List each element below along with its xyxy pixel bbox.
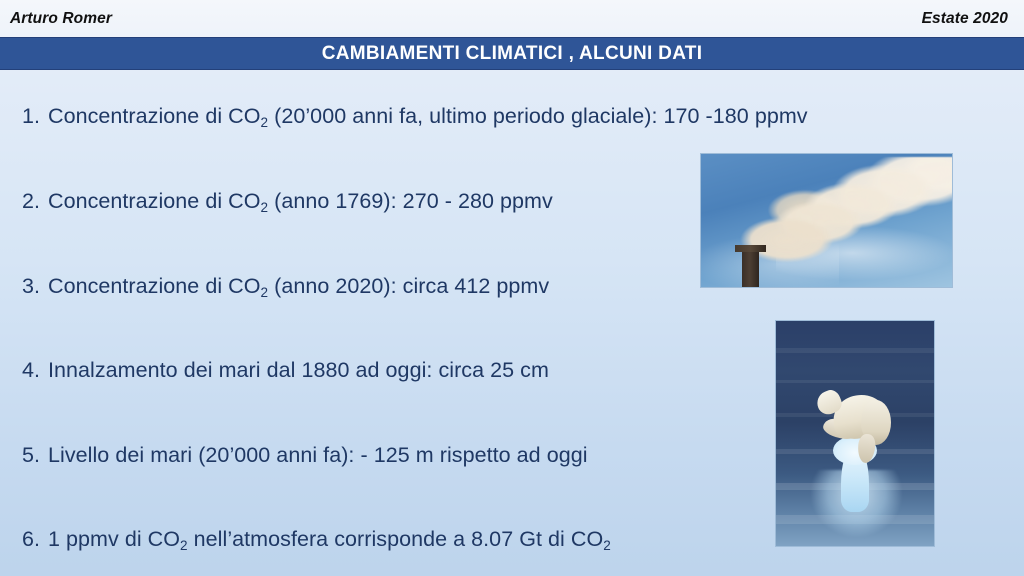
list-item-number: 3. <box>22 274 48 299</box>
list-item: 5. Livello dei mari (20’000 anni fa): - … <box>22 443 588 468</box>
page-title: CAMBIAMENTI CLIMATICI , ALCUNI DATI <box>322 43 703 65</box>
list-item: 4. Innalzamento dei mari dal 1880 ad ogg… <box>22 358 549 383</box>
bear-hind-leg <box>857 433 877 464</box>
list-item: 3. Concentrazione di CO2 (anno 2020): ci… <box>22 274 549 299</box>
list-item-label: Livello dei mari (20’000 anni fa): - 125… <box>48 443 588 468</box>
water-ripple <box>776 380 934 384</box>
list-item: 2. Concentrazione di CO2 (anno 1769): 27… <box>22 189 553 214</box>
smoke-plume <box>736 157 953 263</box>
list-item-number: 1. <box>22 104 48 129</box>
list-item-label: Concentrazione di CO2 (20’000 anni fa, u… <box>48 104 808 129</box>
list-item-label: Concentrazione di CO2 (anno 2020): circa… <box>48 274 549 299</box>
list-item-number: 5. <box>22 443 48 468</box>
list-item-number: 4. <box>22 358 48 383</box>
season-label: Estate 2020 <box>922 10 1012 28</box>
chimney-stack <box>742 247 758 287</box>
author-name: Arturo Romer <box>10 10 112 28</box>
polar-bear-photo <box>775 320 935 547</box>
list-item-number: 6. <box>22 527 48 552</box>
list-item-label: 1 ppmv di CO2 nell’atmosfera corrisponde… <box>48 527 611 552</box>
list-item: 6. 1 ppmv di CO2 nell’atmosfera corrispo… <box>22 527 611 552</box>
list-item-number: 2. <box>22 189 48 214</box>
list-item: 1. Concentrazione di CO2 (20’000 anni fa… <box>22 104 808 129</box>
smokestack-photo <box>700 153 953 288</box>
list-item-label: Innalzamento dei mari dal 1880 ad oggi: … <box>48 358 549 383</box>
chimney-cap <box>735 245 766 252</box>
list-item-label: Concentrazione di CO2 (anno 1769): 270 -… <box>48 189 553 214</box>
slide-header: Arturo Romer Estate 2020 <box>0 0 1024 37</box>
water-ripple <box>776 348 934 353</box>
title-bar: CAMBIAMENTI CLIMATICI , ALCUNI DATI <box>0 37 1024 70</box>
slide: Arturo Romer Estate 2020 CAMBIAMENTI CLI… <box>0 0 1024 576</box>
